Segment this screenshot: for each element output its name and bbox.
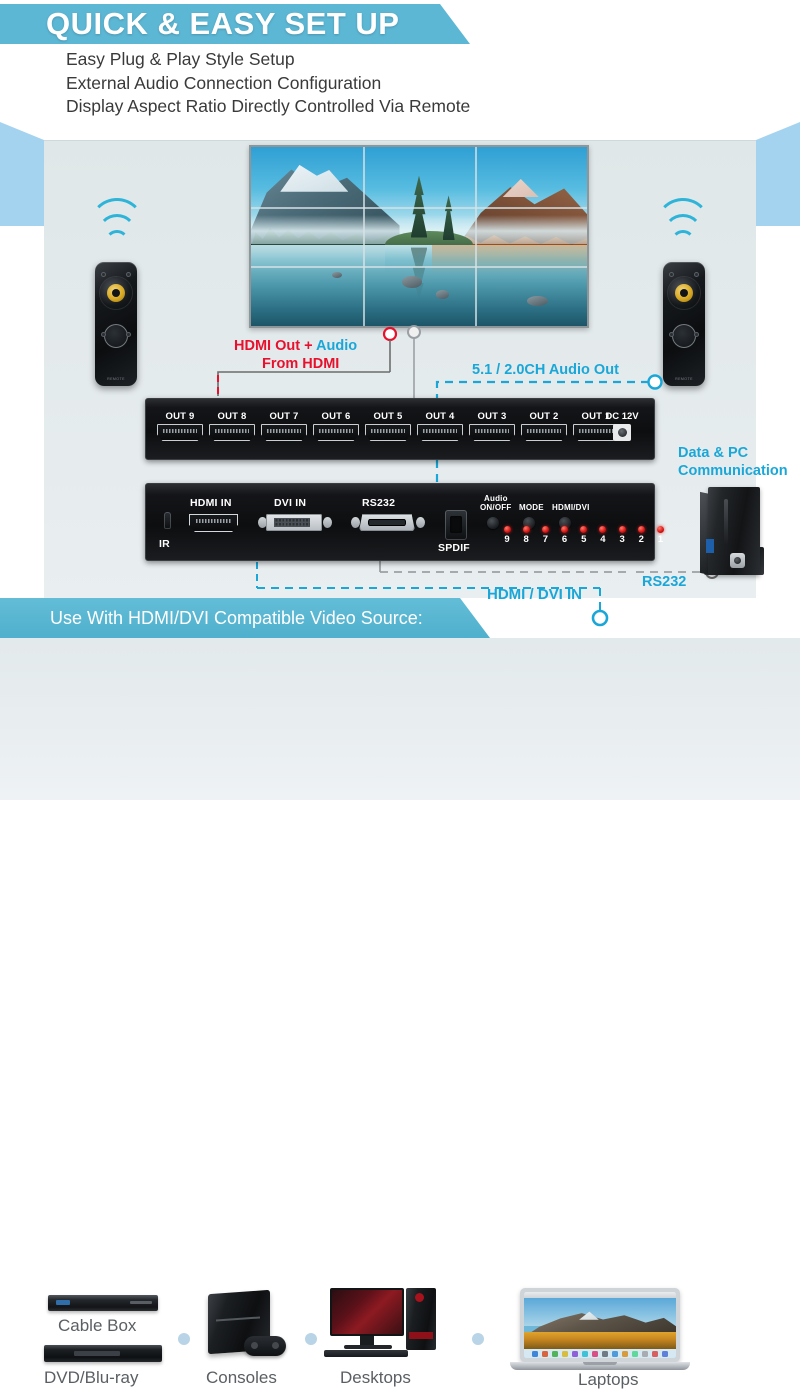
separator-dot bbox=[305, 1333, 317, 1345]
hdmi-jack-icon bbox=[261, 424, 307, 441]
dvi-screw-icon bbox=[323, 517, 332, 528]
output-port-label: OUT 9 bbox=[154, 411, 206, 422]
output-port[interactable]: OUT 5 bbox=[362, 411, 414, 441]
output-port[interactable]: OUT 8 bbox=[206, 411, 258, 441]
source-label-cable-box: Cable Box bbox=[58, 1316, 136, 1336]
led-indicator: 8 bbox=[521, 526, 531, 545]
dc-power-label: DC 12V bbox=[596, 411, 648, 422]
dc-jack-icon bbox=[613, 424, 631, 441]
cable-box-icon bbox=[48, 1295, 158, 1311]
remote-dial-icon bbox=[668, 277, 700, 309]
game-console-icon bbox=[208, 1292, 286, 1358]
feature-bullet-list: Easy Plug & Play Style Setup External Au… bbox=[66, 48, 686, 119]
led-label: 8 bbox=[521, 534, 531, 545]
feature-bullet: External Audio Connection Configuration bbox=[66, 72, 686, 96]
dvi-in-jack-icon[interactable] bbox=[266, 514, 322, 531]
callout-from-hdmi: From HDMI bbox=[262, 356, 339, 372]
hdmi-jack-icon bbox=[157, 424, 203, 441]
led-label: 9 bbox=[502, 534, 512, 545]
output-port-row: OUT 9 OUT 8 OUT 7 OUT 6 OUT 5 OUT 4 bbox=[154, 411, 622, 441]
hdmi-jack-icon bbox=[365, 424, 411, 441]
output-port[interactable]: OUT 6 bbox=[310, 411, 362, 441]
ir-remote-left: REMOTE bbox=[95, 262, 137, 386]
led-indicator: 2 bbox=[636, 526, 646, 545]
hdmi-in-label: HDMI IN bbox=[190, 497, 232, 509]
desktop-pc-tower-icon bbox=[700, 487, 772, 575]
led-indicator: 9 bbox=[502, 526, 512, 545]
led-indicator: 7 bbox=[540, 526, 550, 545]
output-port-label: OUT 2 bbox=[518, 411, 570, 422]
audio-button-label-line1: Audio bbox=[484, 494, 508, 503]
callout-hdmi-out: HDMI Out + Audio bbox=[234, 338, 357, 354]
feature-bullet: Easy Plug & Play Style Setup bbox=[66, 48, 686, 72]
separator-dot bbox=[178, 1333, 190, 1345]
separator-dot bbox=[472, 1333, 484, 1345]
laptop-icon bbox=[510, 1288, 690, 1374]
ir-label: IR bbox=[159, 538, 170, 550]
remote-navpad-icon bbox=[104, 324, 128, 348]
infographic-root: QUICK & EASY SET UP Easy Plug & Play Sty… bbox=[0, 0, 800, 800]
mode-button-label: MODE bbox=[519, 503, 544, 512]
output-port-label: OUT 6 bbox=[310, 411, 362, 422]
video-wall-bezel-grid bbox=[251, 147, 587, 326]
callout-hdmi-out-text: HDMI Out + bbox=[234, 338, 316, 354]
callout-data-pc-line2: Communication bbox=[678, 462, 788, 480]
gamepad-icon bbox=[244, 1336, 286, 1356]
rs232-label: RS232 bbox=[362, 497, 395, 509]
monitor-icon bbox=[330, 1288, 404, 1336]
led-label: 4 bbox=[598, 534, 608, 545]
led-label: 7 bbox=[540, 534, 550, 545]
dvi-in-label: DVI IN bbox=[274, 497, 306, 509]
output-port-label: OUT 3 bbox=[466, 411, 518, 422]
dc-power-port[interactable]: DC 12V bbox=[596, 411, 648, 441]
rs232-jack-icon[interactable] bbox=[359, 514, 415, 531]
hdmi-in-jack-icon[interactable] bbox=[189, 514, 238, 532]
output-port[interactable]: OUT 9 bbox=[154, 411, 206, 441]
output-panel: OUT 9 OUT 8 OUT 7 OUT 6 OUT 5 OUT 4 bbox=[145, 398, 655, 460]
audio-button-label-line2: ON/OFF bbox=[480, 503, 511, 512]
sources-banner-title: Use With HDMI/DVI Compatible Video Sourc… bbox=[50, 604, 423, 632]
led-indicator: 4 bbox=[598, 526, 608, 545]
output-port[interactable]: OUT 2 bbox=[518, 411, 570, 441]
led-label: 3 bbox=[617, 534, 627, 545]
video-wall bbox=[249, 145, 589, 328]
callout-audio-text: Audio bbox=[316, 338, 357, 354]
spdif-label: SPDIF bbox=[438, 542, 470, 554]
tower-icon bbox=[406, 1288, 436, 1350]
led-label: 2 bbox=[636, 534, 646, 545]
hdmi-jack-icon bbox=[417, 424, 463, 441]
source-label-laptops: Laptops bbox=[578, 1370, 639, 1390]
led-label: 1 bbox=[656, 534, 666, 545]
remote-dial-icon bbox=[100, 277, 132, 309]
source-label-dvd-bluray: DVD/Blu-ray bbox=[44, 1368, 138, 1388]
input-panel: IR HDMI IN DVI IN RS232 SPDIF Audio ON/O… bbox=[145, 483, 655, 561]
hdmi-jack-icon bbox=[469, 424, 515, 441]
ir-sensor-port[interactable] bbox=[164, 512, 171, 529]
source-label-consoles: Consoles bbox=[206, 1368, 277, 1388]
led-label: 6 bbox=[560, 534, 570, 545]
callout-audio-out: 5.1 / 2.0CH Audio Out bbox=[472, 362, 619, 378]
led-indicator: 1 bbox=[656, 526, 666, 545]
ir-signal-waves-left-icon bbox=[88, 212, 146, 254]
output-port-label: OUT 4 bbox=[414, 411, 466, 422]
led-label: 5 bbox=[579, 534, 589, 545]
pc-power-button-icon bbox=[730, 553, 745, 568]
callout-rs232: RS232 bbox=[642, 574, 686, 590]
decorative-right-wing bbox=[756, 122, 800, 226]
led-indicator: 5 bbox=[579, 526, 589, 545]
callout-data-pc-communication: Data & PC Communication bbox=[678, 444, 788, 480]
hdmi-jack-icon bbox=[313, 424, 359, 441]
rs232-screw-icon bbox=[416, 517, 425, 528]
output-port-label: OUT 8 bbox=[206, 411, 258, 422]
output-port[interactable]: OUT 3 bbox=[466, 411, 518, 441]
led-indicator: 3 bbox=[617, 526, 627, 545]
output-port-label: OUT 7 bbox=[258, 411, 310, 422]
page-title: QUICK & EASY SET UP bbox=[46, 6, 506, 42]
hdmi-dvi-button-label: HDMI/DVI bbox=[552, 503, 590, 512]
dvd-player-icon bbox=[44, 1345, 162, 1362]
laptop-screen-content bbox=[524, 1292, 676, 1358]
audio-onoff-button[interactable] bbox=[487, 517, 499, 529]
keyboard-icon bbox=[324, 1350, 408, 1357]
led-indicator-row: 9 8 7 6 5 4 3 2 1 bbox=[502, 526, 666, 545]
led-indicator: 6 bbox=[560, 526, 570, 545]
output-port-label: OUT 5 bbox=[362, 411, 414, 422]
hdmi-jack-icon bbox=[209, 424, 255, 441]
callout-hdmi-dvi-in: HDMI / DVI IN bbox=[487, 586, 582, 603]
callout-data-pc-line1: Data & PC bbox=[678, 444, 788, 462]
spdif-jack-icon[interactable] bbox=[445, 510, 467, 540]
rs232-screw-icon bbox=[351, 517, 360, 528]
output-port[interactable]: OUT 7 bbox=[258, 411, 310, 441]
decorative-left-wing bbox=[0, 122, 44, 226]
feature-bullet: Display Aspect Ratio Directly Controlled… bbox=[66, 95, 686, 119]
remote-navpad-icon bbox=[672, 324, 696, 348]
source-label-desktops: Desktops bbox=[340, 1368, 411, 1388]
desktop-pc-icon bbox=[330, 1288, 440, 1362]
stage-divider bbox=[44, 140, 756, 141]
source-device-grid: Cable Box DVD/Blu-ray Consoles Desktops bbox=[0, 640, 800, 800]
hdmi-jack-icon bbox=[521, 424, 567, 441]
ir-remote-right: REMOTE bbox=[663, 262, 705, 386]
ir-signal-waves-right-icon bbox=[654, 212, 712, 254]
output-port[interactable]: OUT 4 bbox=[414, 411, 466, 441]
